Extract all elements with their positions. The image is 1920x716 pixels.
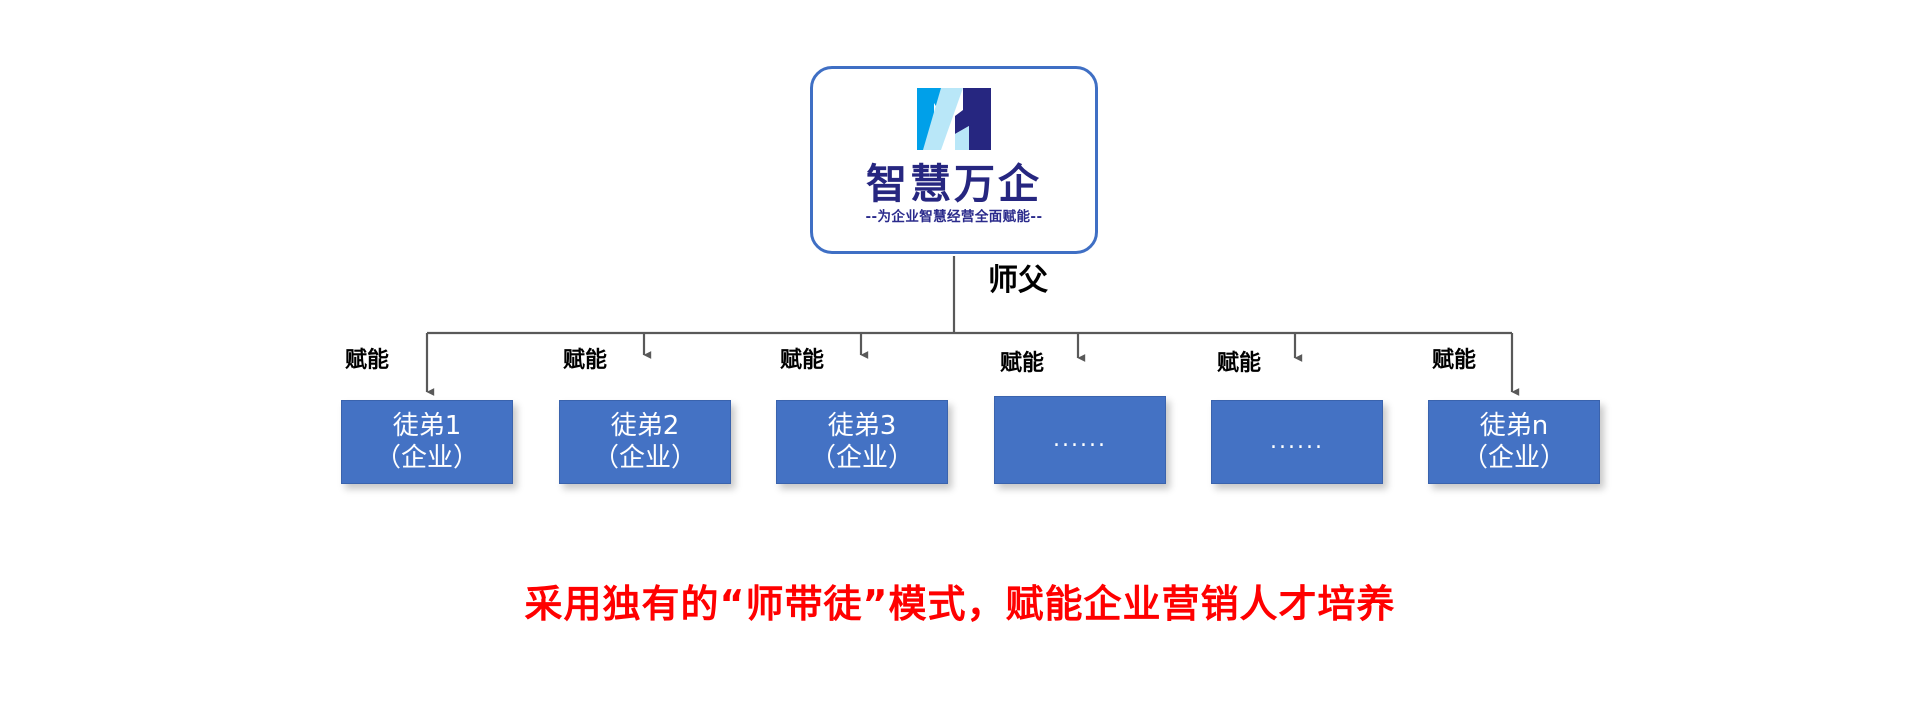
student-box-2-subtitle: （企业） xyxy=(593,442,697,474)
brand-logo-card: 智慧万企 --为企业智慧经营全面赋能-- xyxy=(810,66,1098,254)
z-monogram-icon xyxy=(911,82,997,156)
branch-label-4: 赋能 xyxy=(1000,351,1044,377)
student-box-5[interactable]: ...... xyxy=(1211,400,1383,484)
student-box-3[interactable]: 徒弟3 （企业） xyxy=(776,400,948,484)
branch-label-3: 赋能 xyxy=(780,348,824,374)
student-box-4[interactable]: ...... xyxy=(994,396,1166,484)
student-box-2-title: 徒弟2 xyxy=(611,410,680,442)
branch-label-5: 赋能 xyxy=(1217,351,1261,377)
student-box-1[interactable]: 徒弟1 （企业） xyxy=(341,400,513,484)
student-box-1-subtitle: （企业） xyxy=(375,442,479,474)
branch-label-2: 赋能 xyxy=(563,348,607,374)
student-box-3-title: 徒弟3 xyxy=(828,410,897,442)
student-box-6-subtitle: （企业） xyxy=(1462,442,1566,474)
branch-label-6: 赋能 xyxy=(1432,348,1476,374)
diagram-caption: 采用独有的“师带徒”模式，赋能企业营销人才培养 xyxy=(0,576,1920,632)
diagram-canvas: 智慧万企 --为企业智慧经营全面赋能-- 师父 赋能 赋能 赋能 赋能 赋能 赋… xyxy=(0,0,1920,716)
student-box-6[interactable]: 徒弟n （企业） xyxy=(1428,400,1600,484)
root-edge-label: 师父 xyxy=(988,264,1048,298)
student-box-5-title: ...... xyxy=(1270,426,1324,458)
branch-label-1: 赋能 xyxy=(345,348,389,374)
student-box-3-subtitle: （企业） xyxy=(810,442,914,474)
student-box-4-title: ...... xyxy=(1053,424,1107,456)
student-box-1-title: 徒弟1 xyxy=(393,410,462,442)
student-box-2[interactable]: 徒弟2 （企业） xyxy=(559,400,731,484)
student-box-6-title: 徒弟n xyxy=(1480,410,1548,442)
brand-name: 智慧万企 xyxy=(866,162,1042,206)
brand-tagline: --为企业智慧经营全面赋能-- xyxy=(866,209,1043,225)
